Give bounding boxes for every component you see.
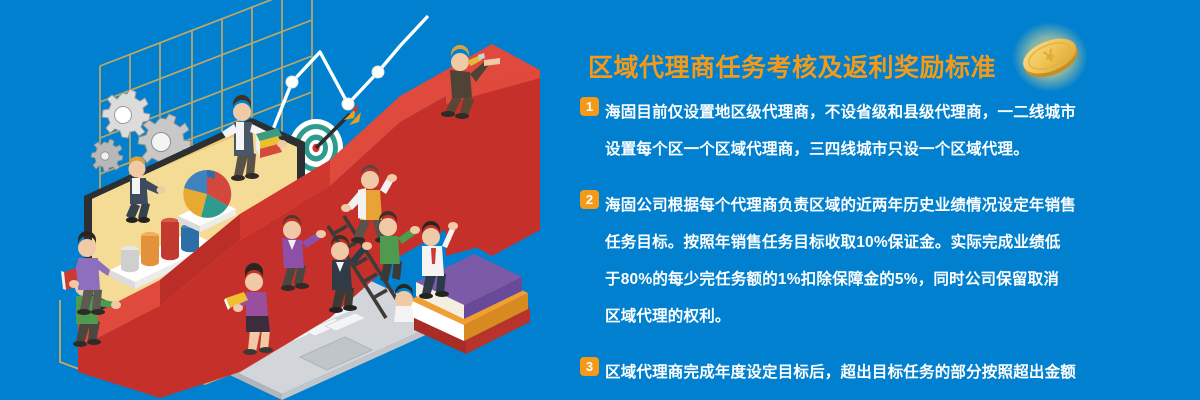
- list-item: 3 区域代理商完成年度设定目标后，超出目标任务的部分按照超出金额 的4%奖励给予…: [580, 354, 1140, 400]
- rules-list: 1 海固目前仅设置地区级代理商，不设省级和县级代理商，一二线城市 设置每个区一个…: [580, 94, 1140, 400]
- promo-banner: 区域代理商任务考核及返利奖励标准 ￥: [0, 0, 1200, 400]
- isometric-business-growth-illustration: [0, 0, 560, 400]
- text-line: 任务目标。按照年销售任务目标收取10%保证金。实际完成业绩低: [605, 224, 1140, 261]
- gold-coin-icon: ￥: [1012, 22, 1088, 92]
- text-line: 设置每个区一个区域代理商，三四线城市只设一个区域代理。: [605, 131, 1140, 168]
- item-text: 区域代理商完成年度设定目标后，超出目标任务的部分按照超出金额 的4%奖励给予区域…: [605, 354, 1140, 400]
- list-item: 1 海固目前仅设置地区级代理商，不设省级和县级代理商，一二线城市 设置每个区一个…: [580, 94, 1140, 168]
- text-line: 海固公司根据每个代理商负责区域的近两年历史业绩情况设定年销售: [605, 187, 1140, 224]
- text-line: 区域代理的权利。: [605, 298, 1140, 335]
- page-title: 区域代理商任务考核及返利奖励标准: [588, 48, 996, 84]
- item-text: 海固公司根据每个代理商负责区域的近两年历史业绩情况设定年销售 任务目标。按照年销…: [605, 187, 1140, 335]
- text-line: 区域代理商完成年度设定目标后，超出目标任务的部分按照超出金额: [605, 354, 1140, 391]
- text-line: 于80%的每少完任务额的1%扣除保障金的5%，同时公司保留取消: [605, 261, 1140, 298]
- item-number-badge: 3: [580, 357, 599, 376]
- text-line: 海固目前仅设置地区级代理商，不设省级和县级代理商，一二线城市: [605, 94, 1140, 131]
- item-number-badge: 1: [580, 97, 599, 116]
- list-item: 2 海固公司根据每个代理商负责区域的近两年历史业绩情况设定年销售 任务目标。按照…: [580, 187, 1140, 335]
- item-text: 海固目前仅设置地区级代理商，不设省级和县级代理商，一二线城市 设置每个区一个区域…: [605, 94, 1140, 168]
- text-line: 的4%奖励给予区域代理返利。: [605, 391, 1140, 400]
- banner-content: 区域代理商任务考核及返利奖励标准 ￥: [560, 0, 1200, 400]
- item-number-badge: 2: [580, 190, 599, 209]
